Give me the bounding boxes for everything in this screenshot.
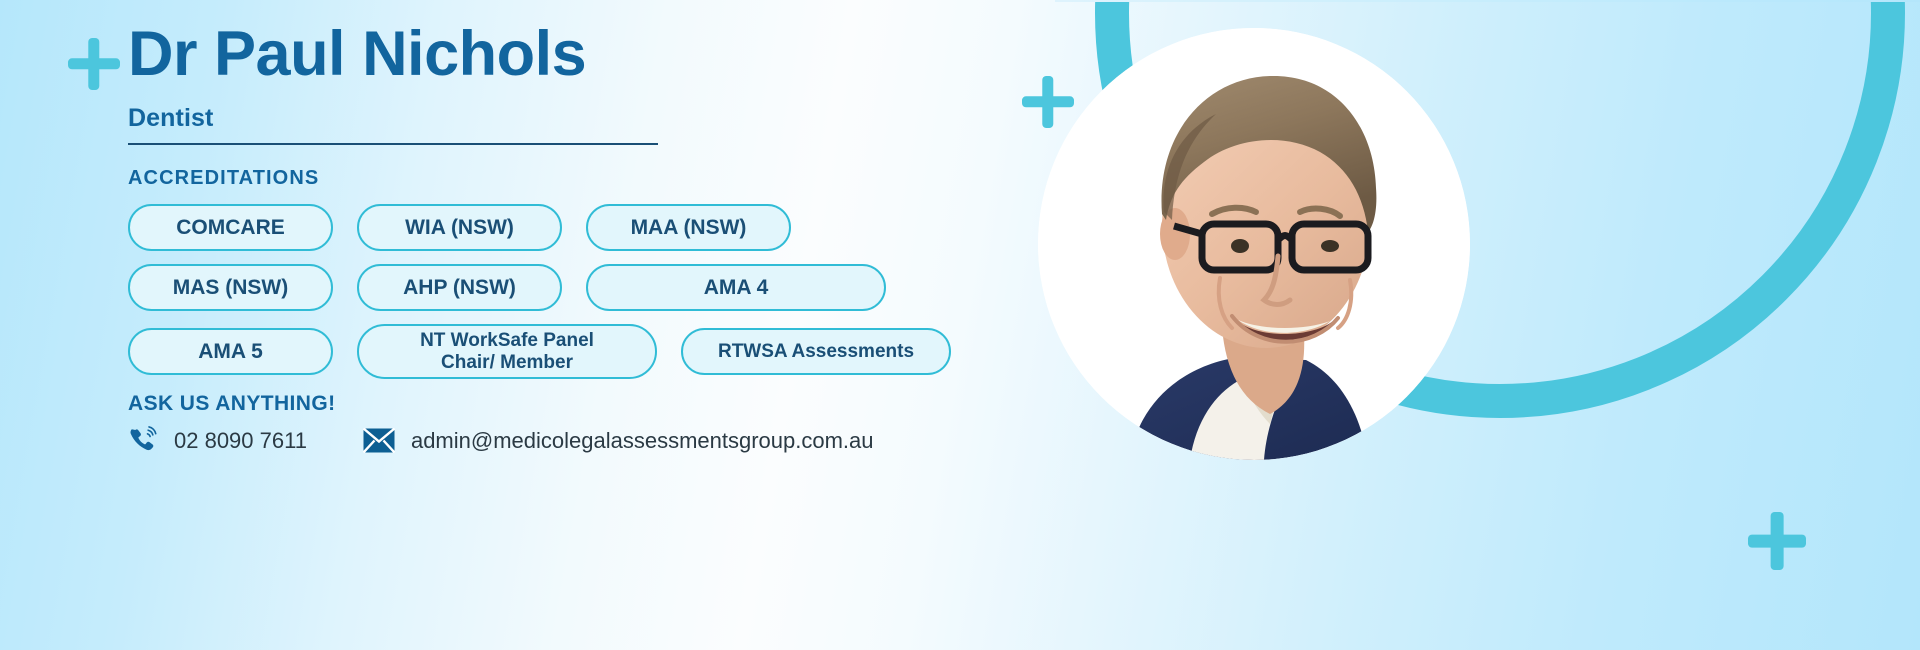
contact-row: 02 8090 7611 admin@medicolegalassessment… bbox=[128, 426, 1028, 456]
accreditation-badge[interactable]: MAS (NSW) bbox=[128, 264, 333, 311]
accreditation-badge[interactable]: MAA (NSW) bbox=[586, 204, 791, 251]
phone-contact[interactable]: 02 8090 7611 bbox=[128, 426, 307, 456]
accreditation-badge[interactable]: AMA 5 bbox=[128, 328, 333, 375]
accreditation-badge[interactable]: AMA 4 bbox=[586, 264, 886, 311]
accreditations-heading: ACCREDITATIONS bbox=[128, 167, 1028, 190]
phone-number: 02 8090 7611 bbox=[174, 428, 307, 454]
accreditation-badge[interactable]: WIA (NSW) bbox=[357, 204, 562, 251]
email-contact[interactable]: admin@medicolegalassessmentsgroup.com.au bbox=[363, 428, 874, 454]
plus-icon bbox=[68, 38, 120, 90]
email-address: admin@medicolegalassessmentsgroup.com.au bbox=[411, 428, 874, 454]
badge-row: COMCARE WIA (NSW) MAA (NSW) bbox=[128, 204, 1028, 251]
badge-row: MAS (NSW) AHP (NSW) AMA 4 bbox=[128, 264, 1028, 311]
ask-us-heading: ASK US ANYTHING! bbox=[128, 392, 1028, 416]
avatar bbox=[1038, 28, 1470, 460]
phone-ringing-icon bbox=[128, 426, 158, 456]
accreditation-badge[interactable]: COMCARE bbox=[128, 204, 333, 251]
accreditation-badges: COMCARE WIA (NSW) MAA (NSW) MAS (NSW) AH… bbox=[128, 204, 1028, 379]
accreditation-badge[interactable]: AHP (NSW) bbox=[357, 264, 562, 311]
plus-icon bbox=[1748, 512, 1806, 570]
envelope-icon bbox=[363, 428, 395, 453]
accreditation-badge[interactable]: RTWSA Assessments bbox=[681, 328, 951, 375]
divider bbox=[128, 143, 658, 145]
portrait-photo bbox=[1038, 28, 1470, 460]
role-label: Dentist bbox=[128, 104, 1028, 133]
accreditation-badge[interactable]: NT WorkSafe Panel Chair/ Member bbox=[357, 324, 657, 379]
profile-banner: Dr Paul Nichols Dentist ACCREDITATIONS C… bbox=[0, 0, 1920, 650]
badge-row: AMA 5 NT WorkSafe Panel Chair/ Member RT… bbox=[128, 324, 1028, 379]
page-title: Dr Paul Nichols bbox=[128, 22, 1028, 86]
profile-content: Dr Paul Nichols Dentist ACCREDITATIONS C… bbox=[128, 22, 1028, 456]
